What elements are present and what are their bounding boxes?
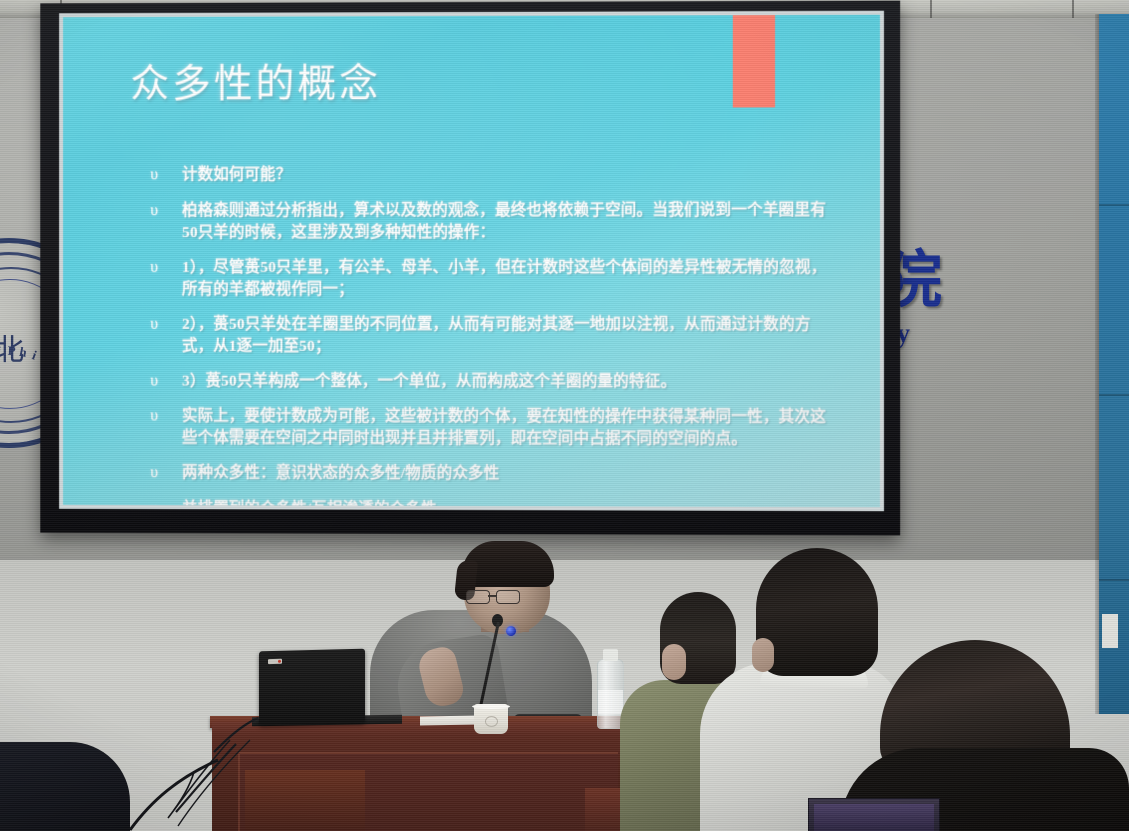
lecture-photo: 北 S c h o o l o f P h i 院 ity 众多性的概念 [0, 0, 1129, 831]
speaker-glasses [466, 590, 522, 602]
bullet-text: 计数如何可能？ [182, 164, 291, 186]
audience-laptop[interactable] [808, 798, 940, 831]
speaker-badge [506, 626, 516, 636]
bullet-mark-icon: υ [150, 406, 182, 429]
screen-bezel: 众多性的概念 υ 计数如何可能？ υ 柏格森则通过分析指出，算术以及数的观念，最… [59, 11, 884, 511]
bullet-mark-icon: υ [150, 498, 182, 507]
audience-ear-2 [752, 638, 774, 672]
bullet-text: 3）蒉50只羊构成一个整体，一个单位，从而构成这个羊圈的量的特征。 [182, 370, 676, 393]
bullet-mark-icon: υ [150, 370, 182, 393]
presentation-slide: 众多性的概念 υ 计数如何可能？ υ 柏格森则通过分析指出，算术以及数的观念，最… [63, 15, 880, 507]
laptop-lid[interactable] [259, 649, 365, 726]
audience-head-2 [756, 548, 878, 676]
laptop-logo-icon [268, 659, 282, 664]
audience-laptop-screen [814, 804, 934, 831]
paper-stack [420, 715, 480, 725]
list-item: υ 并排置列的众多性/互相渗透的众多性 [150, 498, 833, 507]
audience-hand-1 [662, 644, 686, 680]
paper-cup [474, 704, 508, 734]
list-item: υ 两种众多性：意识状态的众多性/物质的众多性 [150, 463, 833, 487]
list-item: υ 实际上，要使计数成为可能，这些被计数的个体，要在知性的操作中获得某种同一性，… [150, 406, 833, 451]
bullet-mark-icon: υ [150, 164, 182, 187]
side-table [245, 770, 365, 831]
bullet-mark-icon: υ [150, 257, 182, 280]
slide-accent-rectangle [733, 15, 775, 107]
projection-screen-frame: 众多性的概念 υ 计数如何可能？ υ 柏格森则通过分析指出，算术以及数的观念，最… [40, 1, 900, 536]
list-item: υ 1），尽管蒉50只羊里，有公羊、母羊、小羊，但在计数时这些个体间的差异性被无… [150, 257, 833, 301]
bullet-text: 柏格森则通过分析指出，算术以及数的观念，最终也将依赖于空间。当我们说到一个羊圈里… [182, 199, 833, 243]
bullet-text: 实际上，要使计数成为可能，这些被计数的个体，要在知性的操作中获得某种同一性，其次… [182, 406, 833, 451]
list-item: υ 2），蒉50只羊处在羊圈里的不同位置，从而有可能对其逐一地加以注视，从而通过… [150, 314, 833, 359]
slide-bullet-list: υ 计数如何可能？ υ 柏格森则通过分析指出，算术以及数的观念，最终也将依赖于空… [150, 164, 833, 508]
bullet-mark-icon: υ [150, 200, 182, 223]
bullet-mark-icon: υ [150, 463, 182, 486]
list-item: υ 3）蒉50只羊构成一个整体，一个单位，从而构成这个羊圈的量的特征。 [150, 370, 833, 394]
list-item: υ 计数如何可能？ [150, 164, 833, 187]
bullet-mark-icon: υ [150, 314, 182, 337]
blue-wall-panel [1099, 14, 1129, 714]
bullet-text: 两种众多性：意识状态的众多性/物质的众多性 [182, 463, 499, 486]
bullet-text: 1），尽管蒉50只羊里，有公羊、母羊、小羊，但在计数时这些个体间的差异性被无情的… [182, 257, 833, 301]
bullet-text: 2），蒉50只羊处在羊圈里的不同位置，从而有可能对其逐一地加以注视，从而通过计数… [182, 314, 833, 359]
list-item: υ 柏格森则通过分析指出，算术以及数的观念，最终也将依赖于空间。当我们说到一个羊… [150, 199, 833, 243]
bullet-text: 并排置列的众多性/互相渗透的众多性 [182, 498, 437, 507]
slide-title: 众多性的概念 [130, 52, 381, 108]
